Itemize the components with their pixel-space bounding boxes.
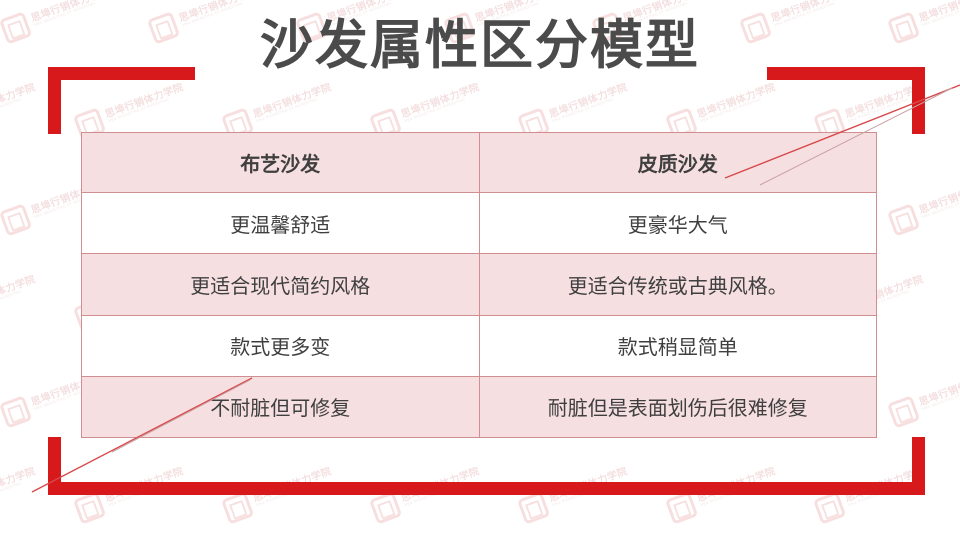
watermark-mark: 思埠行销体力学院SIBU MARKETING OF MARKETING — [887, 173, 960, 236]
watermark-text: 思埠行销体力学院SIBU MARKETING OF MARKETING — [0, 83, 38, 125]
square-seal-logo-icon — [73, 491, 106, 524]
square-seal-logo-icon — [887, 395, 920, 428]
watermark-text-cn: 思埠行销体力学院 — [400, 83, 481, 121]
table-header-row: 布艺沙发 皮质沙发 — [82, 133, 877, 193]
page-title: 沙发属性区分模型 — [0, 16, 960, 77]
watermark-text-cn: 思埠行销体力学院 — [918, 179, 960, 217]
table-row: 款式更多变 款式稍显简单 — [82, 315, 877, 376]
watermark-text-cn: 思埠行销体力学院 — [0, 275, 37, 313]
watermark-text: 思埠行销体力学院SIBU MARKETING OF MARKETING — [400, 83, 482, 125]
watermark-text-cn: 思埠行销体力学院 — [548, 83, 629, 121]
watermark-text: 思埠行销体力学院SIBU MARKETING OF MARKETING — [104, 83, 186, 125]
watermark-mark: 思埠行销体力学院SIBU MARKETING OF MARKETING — [0, 77, 40, 140]
top-right-bracket-vertical-bar — [912, 67, 925, 134]
watermark-mark: 思埠行销体力学院SIBU MARKETING OF MARKETING — [887, 365, 960, 428]
table-header: 布艺沙发 皮质沙发 — [82, 133, 877, 193]
square-seal-logo-icon — [221, 491, 254, 524]
watermark-text-en: SIBU MARKETING OF MARKETING — [404, 93, 483, 125]
square-seal-logo-icon — [887, 203, 920, 236]
watermark-text: 思埠行销体力学院SIBU MARKETING OF MARKETING — [696, 83, 778, 125]
square-seal-logo-icon — [665, 491, 698, 524]
watermark-text-en: SIBU MARKETING OF MARKETING — [0, 477, 38, 509]
watermark-text-en: SIBU MARKETING OF MARKETING — [922, 381, 960, 413]
top-left-bracket-vertical-bar — [48, 67, 61, 134]
square-seal-logo-icon — [0, 203, 32, 236]
watermark-text-cn: 思埠行销体力学院 — [0, 83, 37, 121]
sofa-attribute-comparison-table: 布艺沙发 皮质沙发 更温馨舒适 更豪华大气 更适合现代简约风格 更适合传统或古典… — [81, 132, 877, 438]
watermark-text-cn: 思埠行销体力学院 — [696, 83, 777, 121]
cell-fabric-durability: 不耐脏但可修复 — [82, 376, 480, 437]
watermark-text-cn: 思埠行销体力学院 — [104, 83, 185, 121]
cell-leather-variety: 款式稍显简单 — [479, 315, 877, 376]
watermark-text-en: SIBU MARKETING OF MARKETING — [552, 93, 631, 125]
watermark-text: 思埠行销体力学院SIBU MARKETING OF MARKETING — [0, 275, 38, 317]
column-header-leather-sofa: 皮质沙发 — [479, 133, 877, 193]
table-body: 更温馨舒适 更豪华大气 更适合现代简约风格 更适合传统或古典风格。 款式更多变 … — [82, 193, 877, 438]
table-row: 更温馨舒适 更豪华大气 — [82, 193, 877, 254]
watermark-text: 思埠行销体力学院SIBU MARKETING OF MARKETING — [0, 467, 38, 509]
table-row: 更适合现代简约风格 更适合传统或古典风格。 — [82, 254, 877, 315]
watermark-text-en: SIBU MARKETING OF MARKETING — [922, 189, 960, 221]
bottom-bracket-horizontal-bar — [48, 482, 925, 495]
cell-leather-durability: 耐脏但是表面划伤后很难修复 — [479, 376, 877, 437]
watermark-text-cn: 思埠行销体力学院 — [0, 467, 37, 505]
square-seal-logo-icon — [813, 491, 846, 524]
table-row: 不耐脏但可修复 耐脏但是表面划伤后很难修复 — [82, 376, 877, 437]
watermark-text-cn: 思埠行销体力学院 — [252, 83, 333, 121]
cell-fabric-style: 更适合现代简约风格 — [82, 254, 480, 315]
square-seal-logo-icon — [0, 395, 32, 428]
watermark-mark: 思埠行销体力学院SIBU MARKETING OF MARKETING — [0, 461, 40, 524]
watermark-text-cn: 思埠行销体力学院 — [918, 371, 960, 409]
watermark-text: 思埠行销体力学院SIBU MARKETING OF MARKETING — [918, 371, 960, 413]
watermark-text: 思埠行销体力学院SIBU MARKETING OF MARKETING — [918, 179, 960, 221]
column-header-fabric-sofa: 布艺沙发 — [82, 133, 480, 193]
watermark-text-en: SIBU MARKETING OF MARKETING — [700, 93, 779, 125]
cell-fabric-variety: 款式更多变 — [82, 315, 480, 376]
cell-leather-comfort: 更豪华大气 — [479, 193, 877, 254]
watermark-text-en: SIBU MARKETING OF MARKETING — [0, 93, 38, 125]
bottom-bracket-left-vertical-bar — [48, 437, 61, 495]
watermark-mark: 思埠行销体力学院SIBU MARKETING OF MARKETING — [0, 269, 40, 332]
cell-leather-style: 更适合传统或古典风格。 — [479, 254, 877, 315]
watermark-text-en: SIBU MARKETING OF MARKETING — [0, 285, 38, 317]
square-seal-logo-icon — [369, 491, 402, 524]
watermark-text: 思埠行销体力学院SIBU MARKETING OF MARKETING — [548, 83, 630, 125]
watermark-text-en: SIBU MARKETING OF MARKETING — [108, 93, 187, 125]
watermark-text-en: SIBU MARKETING OF MARKETING — [256, 93, 335, 125]
bottom-bracket-right-vertical-bar — [912, 437, 925, 495]
cell-fabric-comfort: 更温馨舒适 — [82, 193, 480, 254]
watermark-text: 思埠行销体力学院SIBU MARKETING OF MARKETING — [252, 83, 334, 125]
square-seal-logo-icon — [517, 491, 550, 524]
